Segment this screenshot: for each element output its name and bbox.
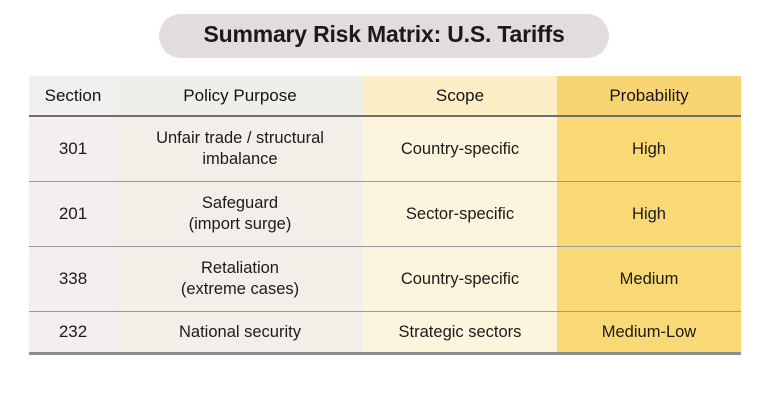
table-row: 232 National security Strategic sectors … xyxy=(29,312,741,354)
column-header-probability: Probability xyxy=(557,76,741,116)
header-row: Section Policy Purpose Scope Probability xyxy=(29,76,741,116)
cell-probability: Medium-Low xyxy=(557,312,741,354)
table-body: 301 Unfair trade / structural imbalance … xyxy=(29,116,741,354)
cell-text-line: (extreme cases) xyxy=(117,279,363,300)
cell-policy-purpose: Safeguard (import surge) xyxy=(117,182,363,247)
title-container: Summary Risk Matrix: U.S. Tariffs xyxy=(0,14,768,58)
cell-section: 232 xyxy=(29,312,117,354)
cell-policy-purpose: Unfair trade / structural imbalance xyxy=(117,116,363,182)
cell-scope: Strategic sectors xyxy=(363,312,557,354)
cell-policy-purpose: National security xyxy=(117,312,363,354)
column-header-scope: Scope xyxy=(363,76,557,116)
cell-scope: Sector-specific xyxy=(363,182,557,247)
slide-canvas: Summary Risk Matrix: U.S. Tariffs Sectio… xyxy=(0,0,768,402)
column-header-section: Section xyxy=(29,76,117,116)
cell-scope: Country-specific xyxy=(363,247,557,312)
title-pill: Summary Risk Matrix: U.S. Tariffs xyxy=(159,14,608,58)
table-header: Section Policy Purpose Scope Probability xyxy=(29,76,741,116)
cell-section: 201 xyxy=(29,182,117,247)
cell-section: 338 xyxy=(29,247,117,312)
cell-text-line: (import surge) xyxy=(117,214,363,235)
cell-scope: Country-specific xyxy=(363,116,557,182)
cell-text-line: Unfair trade / structural xyxy=(117,128,363,149)
cell-text-line: Retaliation xyxy=(117,258,363,279)
cell-probability: High xyxy=(557,116,741,182)
cell-probability: Medium xyxy=(557,247,741,312)
risk-matrix-table: Section Policy Purpose Scope Probability… xyxy=(29,76,741,355)
column-header-policy-purpose: Policy Purpose xyxy=(117,76,363,116)
cell-text-line: National security xyxy=(117,322,363,343)
cell-text-line: Safeguard xyxy=(117,193,363,214)
cell-policy-purpose: Retaliation (extreme cases) xyxy=(117,247,363,312)
cell-probability: High xyxy=(557,182,741,247)
cell-section: 301 xyxy=(29,116,117,182)
table-row: 338 Retaliation (extreme cases) Country-… xyxy=(29,247,741,312)
page-title: Summary Risk Matrix: U.S. Tariffs xyxy=(203,21,564,47)
cell-text-line: imbalance xyxy=(117,149,363,170)
table-row: 201 Safeguard (import surge) Sector-spec… xyxy=(29,182,741,247)
risk-matrix-container: Section Policy Purpose Scope Probability… xyxy=(29,76,741,355)
table-row: 301 Unfair trade / structural imbalance … xyxy=(29,116,741,182)
